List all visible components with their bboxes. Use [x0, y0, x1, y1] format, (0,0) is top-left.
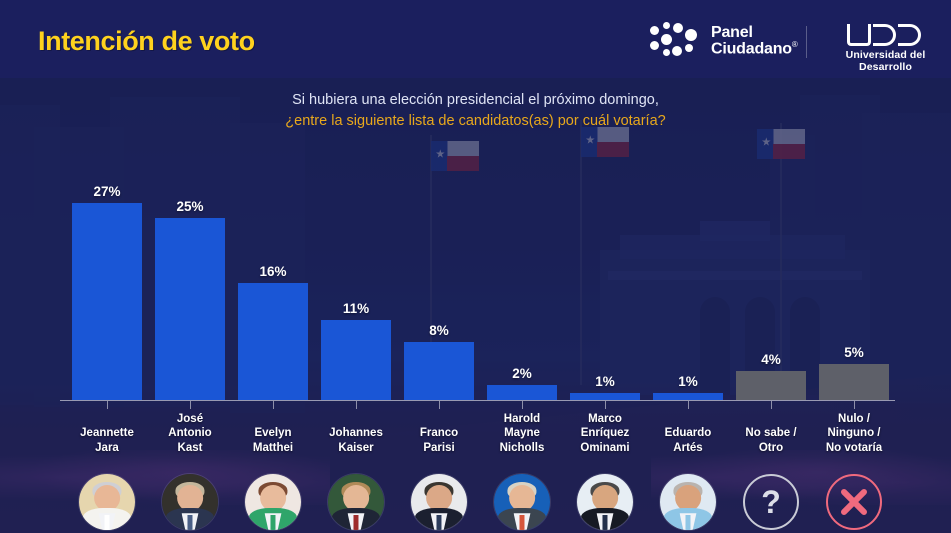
axis-tick: [190, 401, 191, 409]
bar-label-line: Otro: [723, 441, 819, 455]
avatar-eduardo-artes: [660, 474, 716, 530]
bar-value-label: 4%: [761, 352, 781, 367]
bar-value-label: 1%: [595, 374, 615, 389]
header-bar: Intención de voto Panel Ciudadano®: [0, 0, 951, 78]
axis-tick: [688, 401, 689, 409]
registered-mark: ®: [792, 40, 798, 49]
page-title: Intención de voto: [38, 26, 255, 57]
bar-category-label: JoséAntonioKast: [142, 412, 238, 455]
question-line-1: Si hubiera una elección presidencial el …: [0, 90, 951, 111]
bar[interactable]: [72, 203, 142, 400]
bar-category-label: JeannetteJara: [59, 426, 155, 455]
bar-column[interactable]: 1%: [653, 374, 723, 400]
bar-label-line: Johannes: [308, 426, 404, 440]
bar-category-label: No sabe /Otro: [723, 426, 819, 455]
bar[interactable]: [819, 364, 889, 401]
bar-category-label: EduardoArtés: [640, 426, 736, 455]
bar-column[interactable]: 25%: [155, 199, 225, 401]
udd-monogram-icon: [847, 24, 925, 46]
bar-column[interactable]: 8%: [404, 323, 474, 400]
bar[interactable]: [238, 283, 308, 400]
bar-column[interactable]: 4%: [736, 352, 806, 400]
axis-tick: [854, 401, 855, 409]
bar-label-line: No sabe /: [723, 426, 819, 440]
bar-label-line: Jara: [59, 441, 155, 455]
axis-tick: [356, 401, 357, 409]
bar-label-line: Parisi: [391, 441, 487, 455]
bar[interactable]: [653, 393, 723, 400]
bar-category-label: HaroldMayneNicholls: [474, 412, 570, 455]
bar-label-line: Harold: [474, 412, 570, 426]
bar-value-label: 16%: [259, 264, 286, 279]
bar[interactable]: [404, 342, 474, 400]
bar-value-label: 27%: [93, 184, 120, 199]
bar-column[interactable]: 1%: [570, 374, 640, 400]
question-block: Si hubiera una elección presidencial el …: [0, 90, 951, 131]
bar-label-line: Antonio: [142, 426, 238, 440]
bar[interactable]: [487, 385, 557, 400]
bar-value-label: 5%: [844, 345, 864, 360]
bar-label-line: Ninguno /: [806, 426, 902, 440]
avatar-jose-antonio-kast: [162, 474, 218, 530]
brand-line-2: Ciudadano®: [711, 41, 798, 58]
bar[interactable]: [155, 218, 225, 401]
chart-baseline-axis: [60, 400, 895, 401]
bar-label-line: Artés: [640, 441, 736, 455]
bar-label-line: José: [142, 412, 238, 426]
logo-divider: [806, 26, 807, 58]
slide-root: Intención de voto Panel Ciudadano®: [0, 0, 951, 533]
bar[interactable]: [570, 393, 640, 400]
axis-tick: [439, 401, 440, 409]
panel-ciudadano-logo: Panel Ciudadano®: [650, 22, 798, 60]
udd-logo: Universidad del Desarrollo: [820, 24, 951, 73]
bar-value-label: 1%: [678, 374, 698, 389]
avatar-jeannette-jara: [79, 474, 135, 530]
bar-label-line: Mayne: [474, 426, 570, 440]
bar-chart: 27%JeannetteJara25%JoséAntonioKast16%Eve…: [0, 0, 951, 533]
bar-value-label: 2%: [512, 366, 532, 381]
bar-column[interactable]: 16%: [238, 264, 308, 400]
avatar-evelyn-matthei: [245, 474, 301, 530]
bar-label-line: No votaría: [806, 441, 902, 455]
axis-tick: [273, 401, 274, 409]
bar-category-label: EvelynMatthei: [225, 426, 321, 455]
bar-category-label: MarcoEnríquezOminami: [557, 412, 653, 455]
bar-column[interactable]: 2%: [487, 366, 557, 400]
cross-mark-icon: [826, 474, 882, 530]
bar-category-label: FrancoParisi: [391, 426, 487, 455]
bar-column[interactable]: 5%: [819, 345, 889, 401]
avatar-harold-mayne-nicholls: [494, 474, 550, 530]
avatar-franco-parisi: [411, 474, 467, 530]
axis-tick: [771, 401, 772, 409]
axis-tick: [107, 401, 108, 409]
bar-label-line: Nulo /: [806, 412, 902, 426]
bar-label-line: Ominami: [557, 441, 653, 455]
bar-column[interactable]: 27%: [72, 184, 142, 400]
avatar-marco-enriquez-ominami: [577, 474, 633, 530]
bar-value-label: 25%: [176, 199, 203, 214]
bar-label-line: Marco: [557, 412, 653, 426]
bar-label-line: Evelyn: [225, 426, 321, 440]
bar-label-line: Eduardo: [640, 426, 736, 440]
bar-category-label: Nulo /Ninguno /No votaría: [806, 412, 902, 455]
bar-label-line: Franco: [391, 426, 487, 440]
bar-value-label: 11%: [343, 301, 369, 316]
axis-tick: [522, 401, 523, 409]
bar-column[interactable]: 11%: [321, 301, 391, 400]
panel-ciudadano-dots-icon: [650, 22, 702, 60]
brand-line-1: Panel: [711, 25, 798, 41]
bar[interactable]: [736, 371, 806, 400]
bar-label-line: Kaiser: [308, 441, 404, 455]
avatar-johannes-kaiser: [328, 474, 384, 530]
question-mark-icon: ?: [743, 474, 799, 530]
bar[interactable]: [321, 320, 391, 400]
panel-ciudadano-wordmark: Panel Ciudadano®: [711, 25, 798, 58]
question-line-2: ¿entre la siguiente lista de candidatos(…: [0, 111, 951, 132]
bar-label-line: Kast: [142, 441, 238, 455]
bar-value-label: 8%: [429, 323, 449, 338]
bar-label-line: Jeannette: [59, 426, 155, 440]
bar-label-line: Matthei: [225, 441, 321, 455]
udd-name: Universidad del Desarrollo: [820, 49, 951, 73]
axis-tick: [605, 401, 606, 409]
bar-label-line: Nicholls: [474, 441, 570, 455]
bar-label-line: Enríquez: [557, 426, 653, 440]
bar-category-label: JohannesKaiser: [308, 426, 404, 455]
